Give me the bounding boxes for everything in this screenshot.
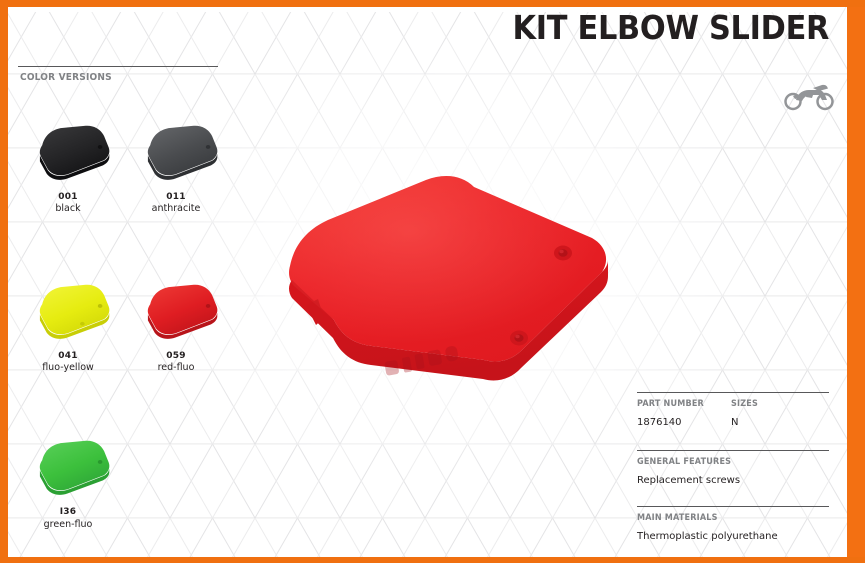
swatch-name: black [55,203,80,214]
swatch-code: 011 [166,192,185,202]
frame-border-left [0,0,8,563]
swatch-image [25,279,111,341]
swatch-name: fluo-yellow [42,362,94,373]
swatch-name: red-fluo [158,362,195,373]
swatch-name: anthracite [152,203,201,214]
color-versions-heading: COLOR VERSIONS [20,72,112,83]
color-swatch-011[interactable]: 011 anthracite [122,120,230,215]
spec-block-main-materials: MAIN MATERIALS Thermoplastic polyurethan… [637,506,829,542]
sizes-value: N [731,417,829,428]
product-hero-image [276,168,621,400]
swatch-code: 001 [58,192,77,202]
swatch-image [25,120,111,182]
main-materials-value: Thermoplastic polyurethane [637,531,829,542]
page-title: KIT ELBOW SLIDER [512,8,829,47]
color-swatch-I36[interactable]: I36 green-fluo [14,435,122,530]
swatch-row: 041 fluo-yellow 0 [14,279,234,374]
spec-block-general-features: GENERAL FEATURES Replacement screws [637,450,829,486]
color-swatch-059[interactable]: 059 red-fluo [122,279,230,374]
swatch-row: 001 black 011 [14,120,234,215]
sizes-label: SIZES [731,399,824,409]
main-materials-label: MAIN MATERIALS [637,513,819,523]
color-swatch-grid: 001 black 011 [14,120,234,530]
swatch-row: I36 green-fluo [14,435,234,530]
specifications-table: PART NUMBER 1876140 SIZES N GENERAL FEAT… [637,392,829,542]
color-versions-rule [18,66,218,67]
general-features-value: Replacement screws [637,475,829,486]
product-sheet: KIT ELBOW SLIDER COLOR VERSIONS [0,0,865,563]
color-swatch-001[interactable]: 001 black [14,120,122,215]
color-swatch-041[interactable]: 041 fluo-yellow [14,279,122,374]
motorcycle-icon [783,78,835,112]
general-features-label: GENERAL FEATURES [637,457,819,467]
swatch-image [25,435,111,497]
swatch-image [133,279,219,341]
frame-top-inner-white [8,7,835,12]
frame-border-bottom [0,557,865,563]
swatch-empty-cell [122,435,230,530]
swatch-name: green-fluo [44,519,93,530]
swatch-code: I36 [60,507,76,517]
part-number-label: PART NUMBER [637,399,726,409]
swatch-image [133,120,219,182]
part-number-value: 1876140 [637,417,731,428]
spec-divider [637,506,829,507]
spec-block-part-number: PART NUMBER 1876140 SIZES N [637,392,829,428]
swatch-code: 041 [58,351,77,361]
swatch-code: 059 [166,351,185,361]
frame-border-top [0,0,865,7]
frame-border-right [847,0,865,563]
spec-divider [637,450,829,451]
